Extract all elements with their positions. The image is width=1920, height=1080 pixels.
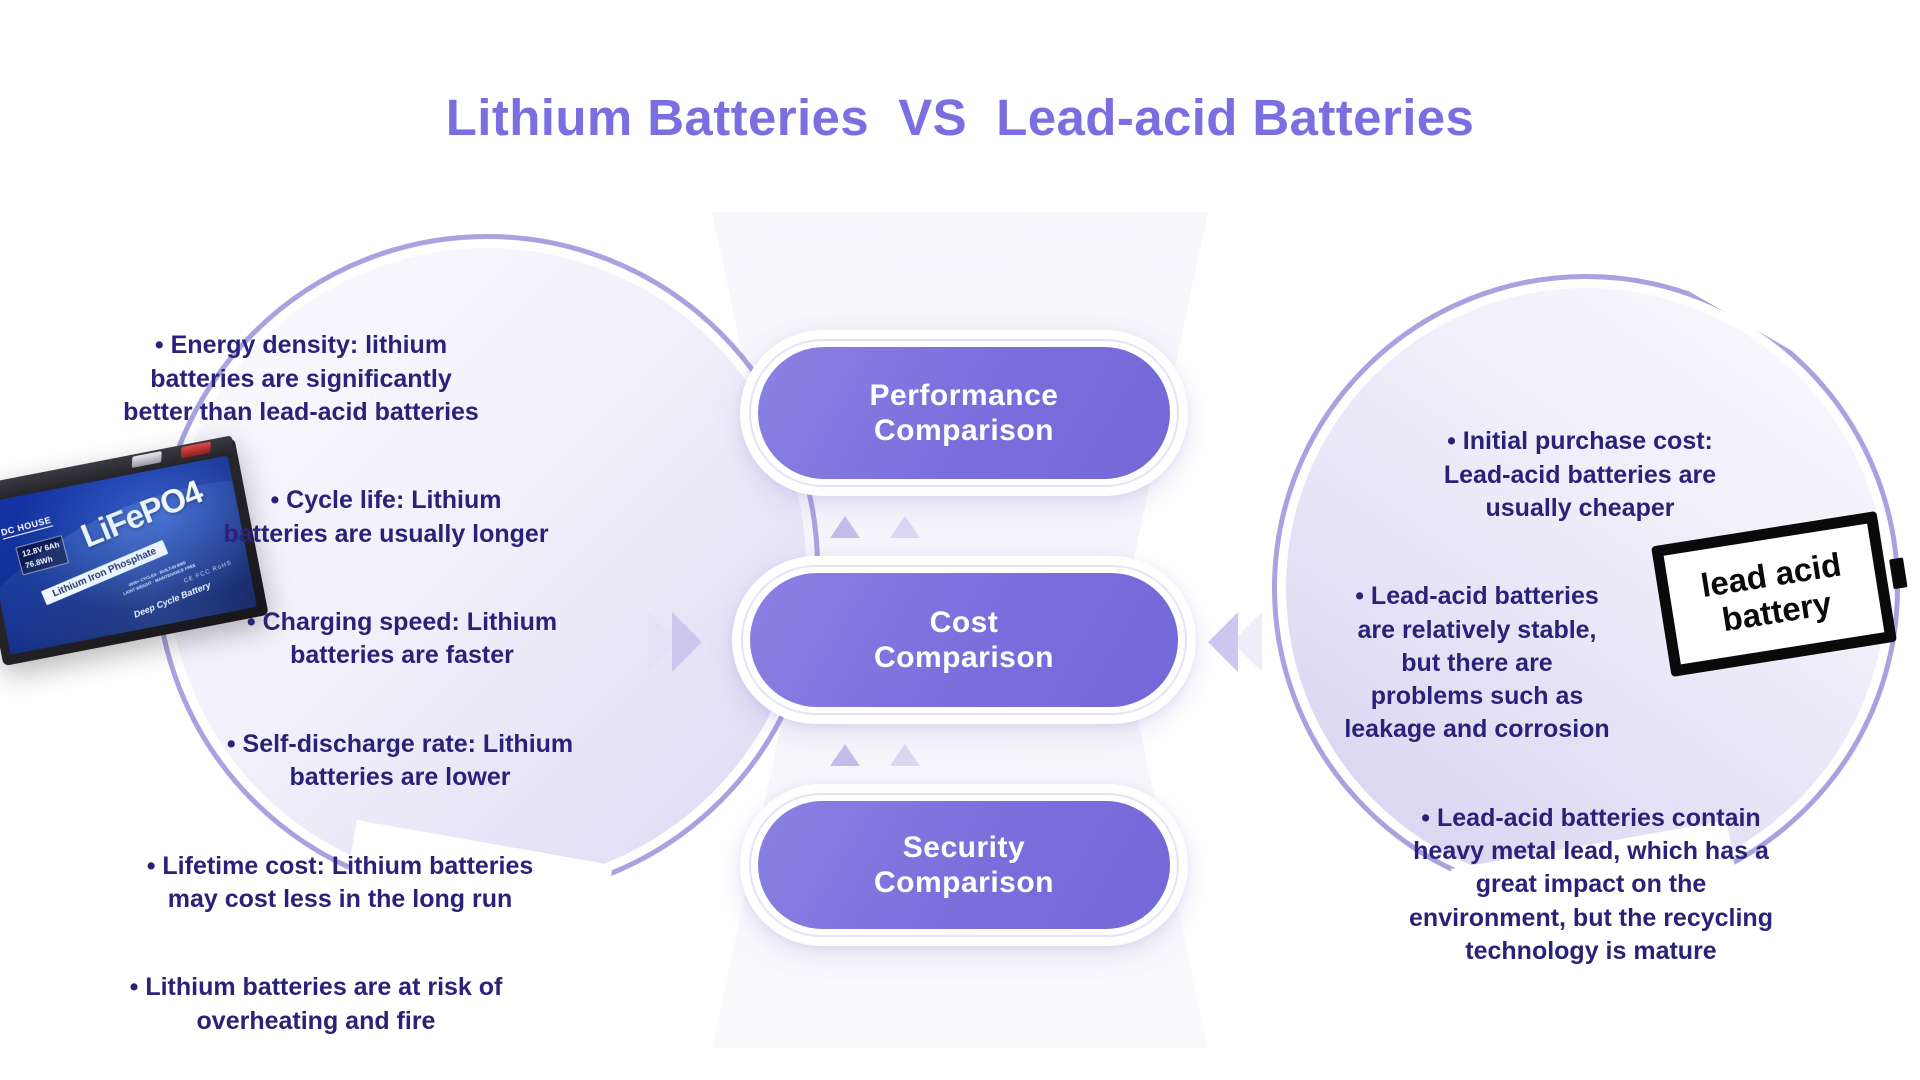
right-bullet-list: • Initial purchase cost: Lead-acid batte… [1320, 392, 1860, 1001]
connector-chevrons-bottom [830, 744, 920, 766]
list-item: • Initial purchase cost: Lead-acid batte… [1410, 425, 1750, 525]
chevron-up-icon [830, 516, 860, 538]
right-arrow-icon [1208, 612, 1238, 672]
list-item: • Energy density: lithium batteries are … [0, 329, 620, 429]
pill-cost-label: Cost Comparison [750, 573, 1178, 707]
pill-security-comparison[interactable]: Security Comparison [740, 784, 1188, 946]
list-item: • Cycle life: Lithium batteries are usua… [176, 484, 596, 551]
pill-cost-comparison[interactable]: Cost Comparison [732, 556, 1196, 724]
chevron-up-icon [890, 516, 920, 538]
connector-chevrons-top [830, 516, 920, 538]
list-item: • Lead-acid batteries contain heavy meta… [1376, 802, 1806, 968]
list-item: • Charging speed: Lithium batteries are … [202, 606, 602, 673]
list-item: • Lithium batteries are at risk of overh… [56, 971, 576, 1038]
page-title: Lithium Batteries VS Lead-acid Batteries [0, 88, 1920, 147]
list-item: • Self-discharge rate: Lithium batteries… [180, 728, 620, 795]
chevron-up-icon [890, 744, 920, 766]
pill-security-label: Security Comparison [758, 801, 1170, 929]
left-arrow-icon [672, 612, 702, 672]
list-item: • Lead-acid batteries are relatively sta… [1312, 580, 1642, 746]
pill-performance-label: Performance Comparison [758, 347, 1170, 479]
pill-performance-comparison[interactable]: Performance Comparison [740, 330, 1188, 496]
list-item: • Lifetime cost: Lithium batteries may c… [80, 850, 600, 917]
left-bullet-list: • Energy density: lithium batteries are … [20, 296, 620, 1071]
chevron-up-icon [830, 744, 860, 766]
